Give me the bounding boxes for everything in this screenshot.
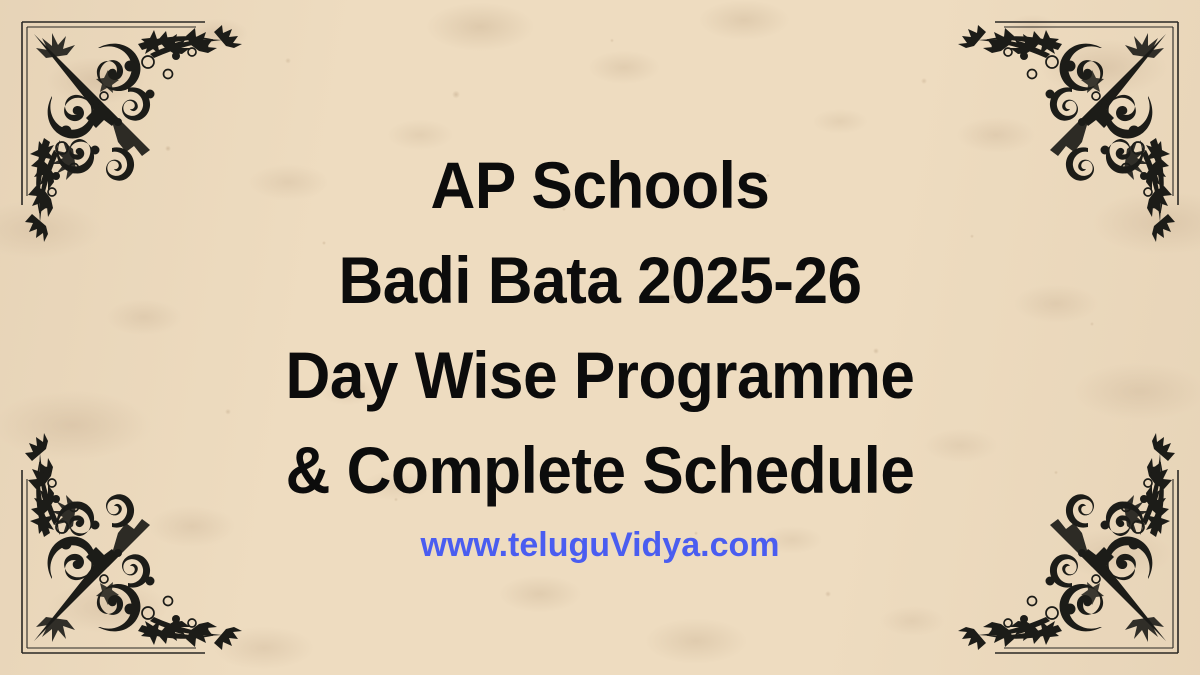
title-line-4: & Complete Schedule (36, 423, 1164, 518)
title-line-2: Badi Bata 2025-26 (36, 233, 1164, 328)
title-line-1: AP Schools (36, 138, 1164, 233)
title-line-3: Day Wise Programme (36, 328, 1164, 423)
poster-headline: AP Schools Badi Bata 2025-26 Day Wise Pr… (0, 138, 1200, 518)
poster-canvas: AP Schools Badi Bata 2025-26 Day Wise Pr… (0, 0, 1200, 675)
site-url[interactable]: www.teluguVidya.com (0, 524, 1200, 566)
